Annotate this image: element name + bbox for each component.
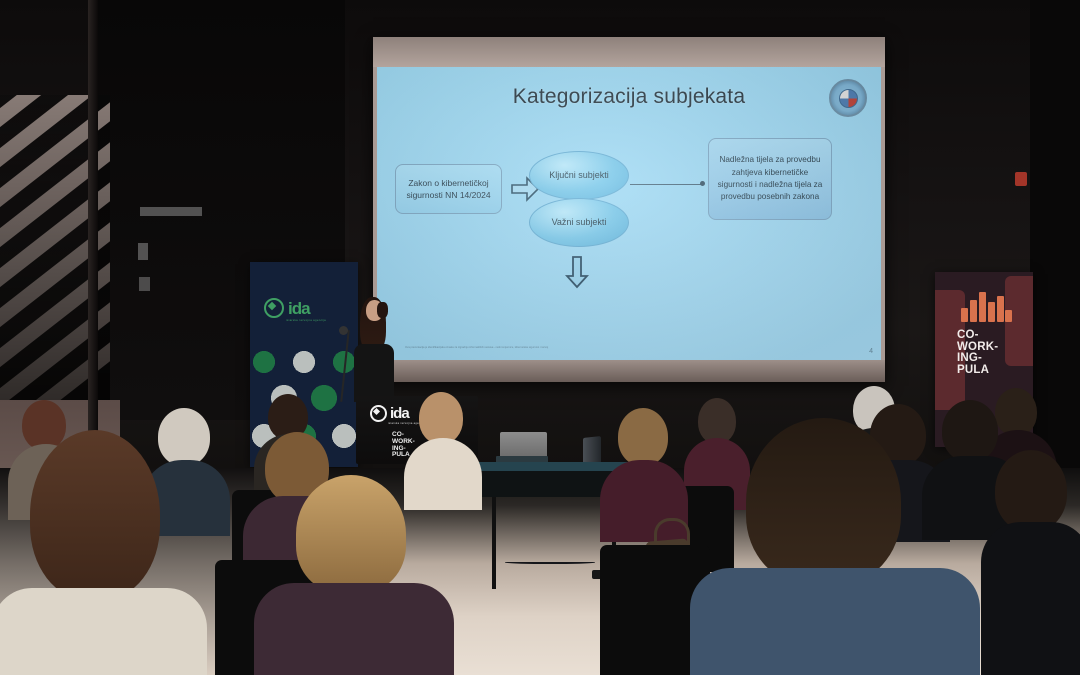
power-cable: [505, 560, 595, 564]
projector-device: [583, 436, 601, 465]
ida-logo-subtitle: istarska razvojna agencija: [286, 318, 326, 322]
wall-plate-long: [140, 207, 202, 216]
presentation-slide: Kategorizacija subjekata Zakon o kiberne…: [377, 67, 881, 360]
coworking-building-icon: [961, 288, 1011, 322]
audience-person-front-center: [276, 475, 436, 675]
head: [30, 430, 160, 600]
audience-person-front-right: [710, 418, 960, 675]
presenter: [352, 300, 396, 400]
shoulders: [0, 588, 207, 675]
diagram-ellipse-important-subjects: Važni subjekti: [529, 198, 629, 247]
audience-person-front-far-right: [995, 450, 1080, 675]
shoulders: [690, 568, 980, 675]
ida-logo: ida: [264, 298, 310, 318]
presenter-body: [354, 344, 394, 402]
audience-person-mid-4: [608, 408, 678, 536]
globe-icon-inner: [839, 89, 858, 108]
projection-screen: Kategorizacija subjekata Zakon o kiberne…: [373, 37, 885, 382]
shoulders: [254, 583, 454, 675]
screen-bottom-band: [373, 360, 885, 382]
wall-plate-small-lower: [139, 277, 150, 291]
conference-room-scene: Kategorizacija subjekata Zakon o kiberne…: [0, 0, 1080, 675]
banner-line-4: PULA: [957, 365, 998, 377]
diagram-connector-endpoint: [700, 181, 705, 186]
audience-person-front-left: [10, 430, 190, 675]
head: [419, 392, 463, 444]
lectern-ida-text: ida: [390, 406, 409, 421]
diagram-box-law: Zakon o kibernetičkoj sigurnosti NN 14/2…: [395, 164, 502, 214]
lectern-ida-logo: ida: [370, 405, 409, 422]
laptop-screen: [500, 432, 547, 457]
head: [618, 408, 668, 466]
diagram-box-authorities: Nadležna tijela za provedbu zahtjeva kib…: [708, 138, 832, 220]
screen-top-band: [373, 37, 885, 67]
presenter-hair-front: [377, 302, 388, 318]
lectern-ida-mark-icon: [370, 405, 387, 422]
diagram-connector-line: [630, 184, 703, 185]
slide-title: Kategorizacija subjekata: [377, 85, 881, 109]
banner-coworking-text: CO- WORK- ING- PULA: [957, 330, 998, 377]
banner-line-1: CO-: [957, 330, 998, 342]
block-arrow-down-icon: [565, 255, 589, 289]
shoulders: [981, 522, 1080, 675]
head: [746, 418, 901, 586]
diagram-ellipse-key-subjects: Ključni subjekti: [529, 151, 629, 200]
globe-shield-emblem-icon: [829, 79, 867, 117]
head: [995, 450, 1067, 532]
door-edge: [88, 0, 98, 440]
wall-plate-small-upper: [138, 243, 148, 260]
exit-light-icon: [1015, 172, 1027, 186]
ida-logo-text: ida: [288, 300, 310, 317]
slide-page-number: 4: [869, 348, 873, 355]
microphone-head: [339, 326, 348, 335]
slide-footnote: Ova prezentacija je identifikacijska ozn…: [405, 346, 845, 352]
head: [296, 475, 406, 593]
ida-mark-icon: [264, 298, 284, 318]
